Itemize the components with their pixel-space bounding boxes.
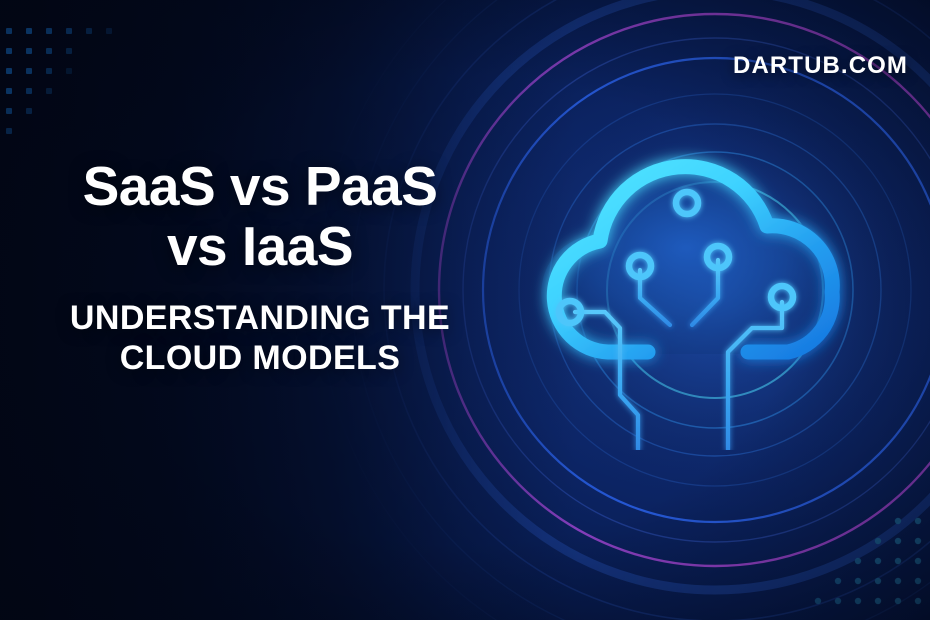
headline-line-1: SaaS vs PaaS	[0, 158, 520, 214]
cloud-circuit-icon	[520, 120, 920, 450]
headline-block: SaaS vs PaaS vs IaaS UNDERSTANDING THE C…	[0, 158, 520, 378]
subheadline-line-2: CLOUD MODELS	[0, 338, 520, 378]
headline-line-2: vs IaaS	[0, 218, 520, 274]
brand-wordmark: DARTUB.COM	[733, 52, 908, 80]
banner-canvas: DARTUB.COM SaaS vs PaaS vs IaaS UNDERSTA…	[0, 0, 930, 620]
subheadline-block: UNDERSTANDING THE CLOUD MODELS	[0, 274, 520, 378]
dot-grid-top-left	[0, 0, 150, 150]
subheadline-line-1: UNDERSTANDING THE	[0, 298, 520, 338]
dot-grid-bottom-right	[790, 505, 930, 620]
